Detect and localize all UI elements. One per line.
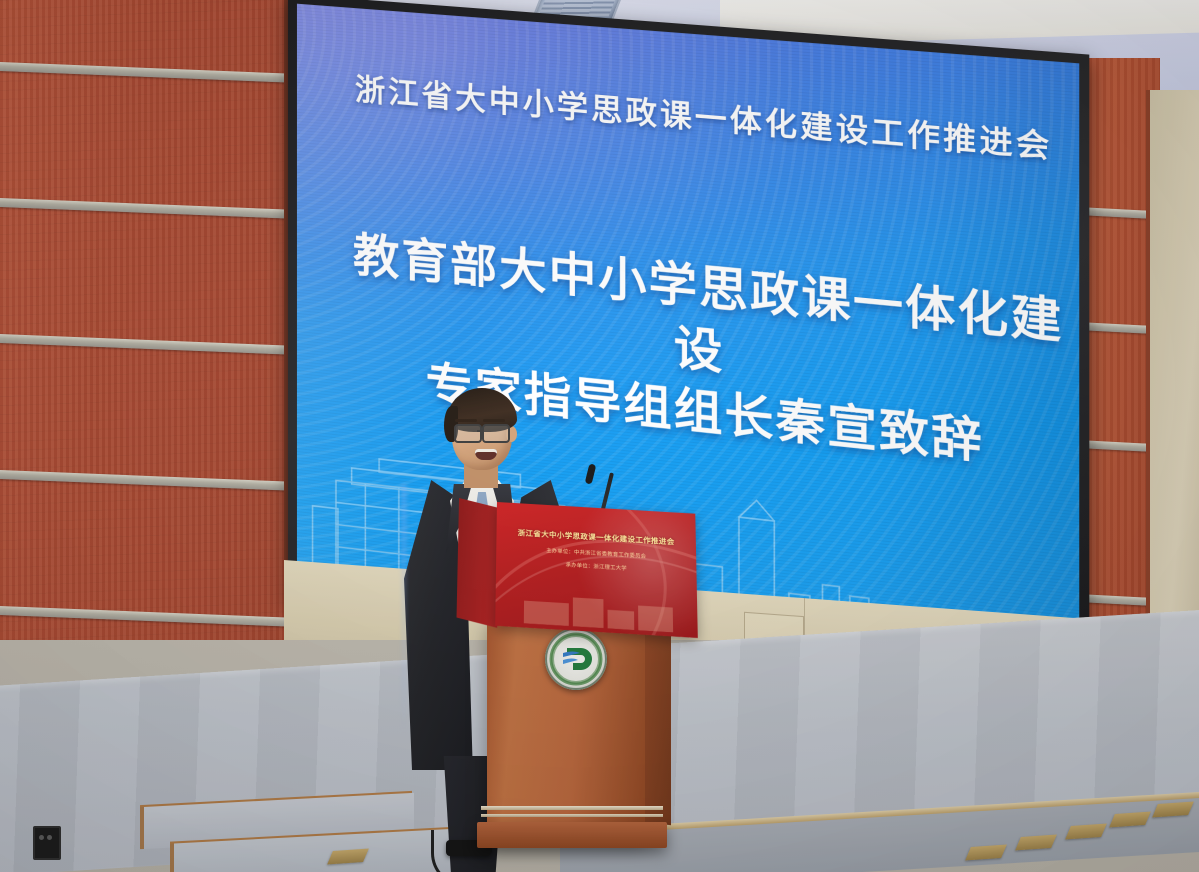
podium-base: [477, 822, 667, 848]
emblem-ring: [551, 634, 601, 684]
rim-light: [402, 484, 406, 734]
podium: 浙江省大中小学思政课一体化建设工作推进会 主办单位：中共浙江省委教育工作委员会 …: [459, 500, 699, 872]
podium-banner-face: 浙江省大中小学思政课一体化建设工作推进会 主办单位：中共浙江省委教育工作委员会 …: [495, 502, 698, 638]
microphone-cable: [431, 830, 494, 872]
eyeglasses-lens-right: [482, 424, 510, 443]
wall-power-outlet: [33, 826, 61, 860]
eyeglasses-bridge: [477, 430, 483, 432]
podium-banner-left-wing: [457, 498, 499, 628]
podium-side: [645, 622, 671, 825]
podium-trim-line: [481, 814, 663, 817]
eyebrow-right: [483, 419, 505, 422]
eyebrow-left: [455, 419, 477, 422]
podium-trim-line: [481, 806, 663, 810]
university-emblem-icon: [545, 628, 607, 690]
mouth: [475, 449, 497, 460]
podium-banner: 浙江省大中小学思政课一体化建设工作推进会 主办单位：中共浙江省委教育工作委员会 …: [456, 500, 702, 634]
conference-photo-scene: ⑂: [0, 0, 1199, 872]
eyeglasses-lens-left: [454, 424, 482, 443]
